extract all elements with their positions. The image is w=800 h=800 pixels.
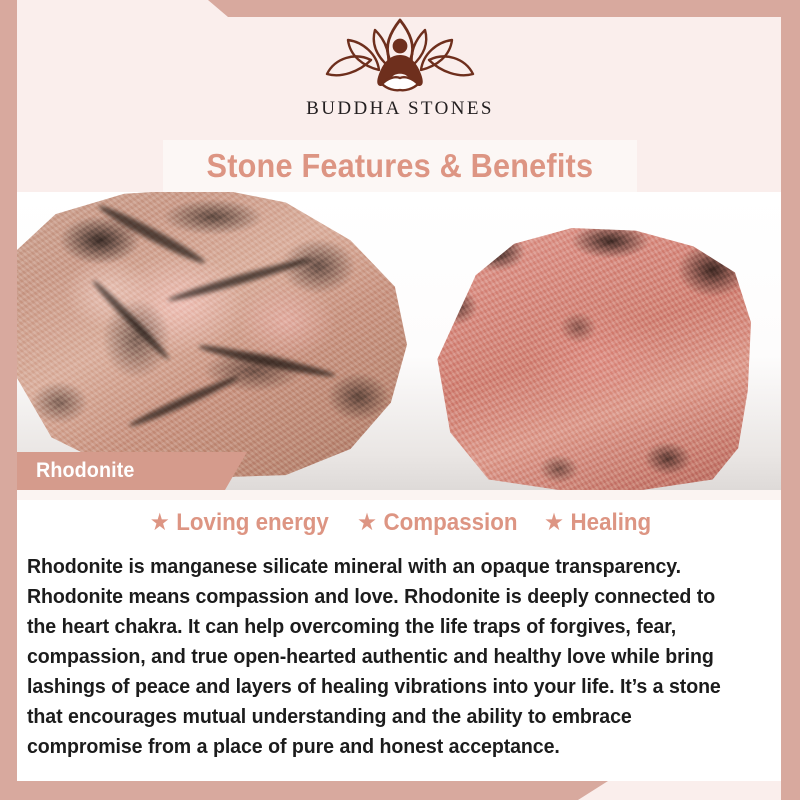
benefit-keyword-label: Loving energy xyxy=(176,509,329,537)
stone-photo xyxy=(17,192,781,490)
page-title: Stone Features & Benefits xyxy=(207,147,594,185)
frame-border-bottom xyxy=(0,781,620,800)
star-icon: ★ xyxy=(544,511,564,535)
poster-canvas: BUDDHA STONES Stone Features & Benefits … xyxy=(0,0,800,800)
brand-name: BUDDHA STONES xyxy=(270,98,530,120)
benefit-keyword-3: ★ Healing xyxy=(544,509,651,537)
star-icon: ★ xyxy=(357,511,377,535)
lotus-meditation-icon xyxy=(315,14,485,96)
brand-header: BUDDHA STONES xyxy=(0,0,800,140)
stone-name-badge: Rhodonite xyxy=(17,452,247,490)
benefit-keyword-label: Compassion xyxy=(384,509,518,537)
stone-name-label: Rhodonite xyxy=(36,459,134,483)
panel-top-tint xyxy=(17,490,781,500)
benefit-keyword-label: Healing xyxy=(570,509,651,537)
star-icon: ★ xyxy=(150,511,170,535)
stone-description-text: Rhodonite is manganese silicate mineral … xyxy=(27,552,745,762)
description-panel: ★ Loving energy ★ Compassion ★ Healing R… xyxy=(17,490,781,781)
brand-logo: BUDDHA STONES xyxy=(270,14,530,120)
benefit-keyword-1: ★ Loving energy xyxy=(150,509,329,537)
benefit-keyword-row: ★ Loving energy ★ Compassion ★ Healing xyxy=(17,509,781,537)
section-title-band: Stone Features & Benefits xyxy=(163,140,637,192)
benefit-keyword-2: ★ Compassion xyxy=(357,509,517,537)
